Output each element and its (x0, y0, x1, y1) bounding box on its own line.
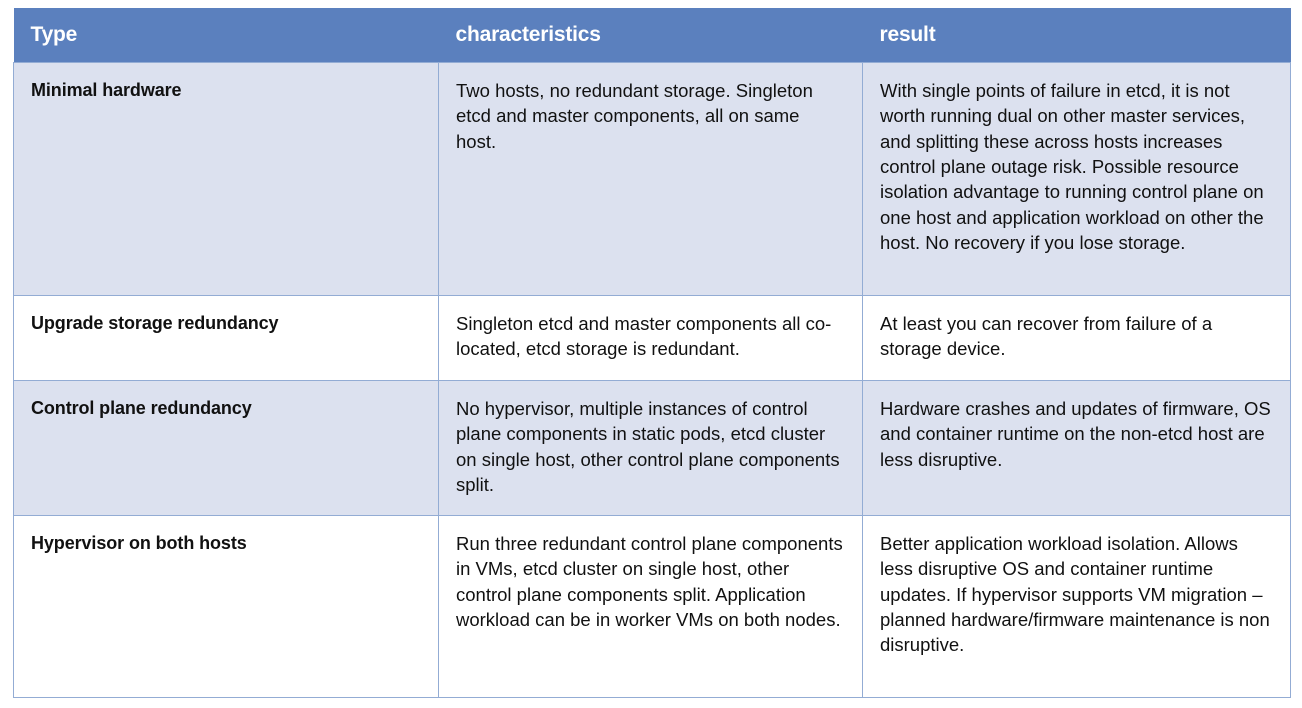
cell-result-text: With single points of failure in etcd, i… (880, 78, 1272, 255)
column-header-result: result (863, 8, 1291, 63)
cell-result: Better application workload isolation. A… (863, 516, 1291, 698)
cell-result-text: Hardware crashes and updates of firmware… (880, 396, 1272, 472)
comparison-table-container: Type characteristics result Minimal hard… (13, 8, 1290, 698)
cell-characteristics-text: Singleton etcd and master components all… (456, 311, 844, 362)
cell-characteristics: Run three redundant control plane compon… (439, 516, 863, 698)
cell-type: Minimal hardware (14, 63, 439, 296)
cell-type-text: Minimal hardware (31, 78, 420, 103)
cell-type-text: Upgrade storage redundancy (31, 311, 420, 336)
cell-result-text: At least you can recover from failure of… (880, 311, 1272, 362)
cell-characteristics: Singleton etcd and master components all… (439, 296, 863, 381)
comparison-table: Type characteristics result Minimal hard… (13, 8, 1291, 698)
cell-result-text: Better application workload isolation. A… (880, 531, 1272, 658)
cell-characteristics-text: No hypervisor, multiple instances of con… (456, 396, 844, 497)
cell-type: Hypervisor on both hosts (14, 516, 439, 698)
cell-result: At least you can recover from failure of… (863, 296, 1291, 381)
cell-characteristics: No hypervisor, multiple instances of con… (439, 381, 863, 516)
cell-type-text: Control plane redundancy (31, 396, 420, 421)
cell-result: With single points of failure in etcd, i… (863, 63, 1291, 296)
cell-characteristics-text: Two hosts, no redundant storage. Singlet… (456, 78, 844, 154)
cell-type-text: Hypervisor on both hosts (31, 531, 420, 556)
cell-characteristics-text: Run three redundant control plane compon… (456, 531, 844, 632)
column-header-type: Type (14, 8, 439, 63)
table-body: Minimal hardware Two hosts, no redundant… (14, 63, 1291, 698)
table-row: Minimal hardware Two hosts, no redundant… (14, 63, 1291, 296)
table-header: Type characteristics result (14, 8, 1291, 63)
table-row: Upgrade storage redundancy Singleton etc… (14, 296, 1291, 381)
table-row: Control plane redundancy No hypervisor, … (14, 381, 1291, 516)
cell-characteristics: Two hosts, no redundant storage. Singlet… (439, 63, 863, 296)
table-row: Hypervisor on both hosts Run three redun… (14, 516, 1291, 698)
cell-result: Hardware crashes and updates of firmware… (863, 381, 1291, 516)
cell-type: Upgrade storage redundancy (14, 296, 439, 381)
header-row: Type characteristics result (14, 8, 1291, 63)
cell-type: Control plane redundancy (14, 381, 439, 516)
column-header-characteristics: characteristics (439, 8, 863, 63)
